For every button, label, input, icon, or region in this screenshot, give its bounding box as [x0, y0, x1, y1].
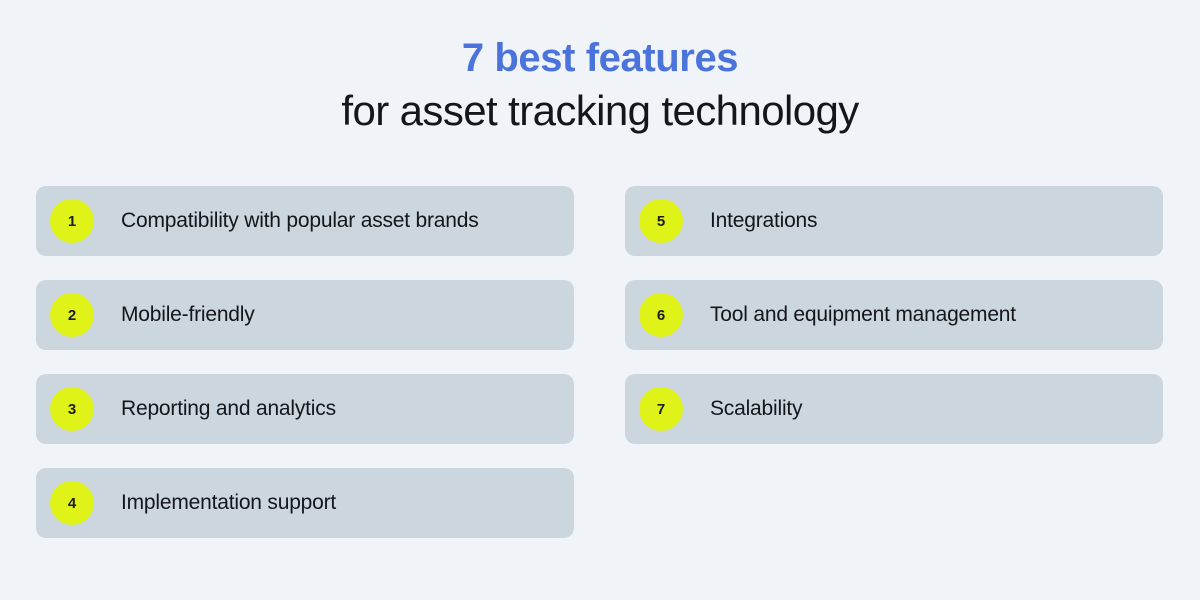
feature-columns: 1 Compatibility with popular asset brand… [36, 186, 1164, 538]
feature-label: Scalability [710, 397, 802, 421]
title-line-primary: 7 best features [0, 36, 1200, 81]
feature-column-left: 1 Compatibility with popular asset brand… [36, 186, 574, 538]
page-title: 7 best features for asset tracking techn… [0, 36, 1200, 141]
number-badge: 3 [50, 387, 94, 431]
number-badge: 2 [50, 293, 94, 337]
feature-card[interactable]: 5 Integrations [625, 186, 1163, 256]
feature-card[interactable]: 2 Mobile-friendly [36, 280, 574, 350]
feature-card[interactable]: 7 Scalability [625, 374, 1163, 444]
number-badge: 7 [639, 387, 683, 431]
feature-label: Reporting and analytics [121, 397, 336, 421]
feature-card[interactable]: 1 Compatibility with popular asset brand… [36, 186, 574, 256]
number-badge: 6 [639, 293, 683, 337]
feature-label: Tool and equipment management [710, 303, 1016, 327]
feature-label: Mobile-friendly [121, 303, 255, 327]
number-badge: 5 [639, 199, 683, 243]
feature-column-right: 5 Integrations 6 Tool and equipment mana… [625, 186, 1163, 538]
infographic-page: 7 best features for asset tracking techn… [0, 0, 1200, 600]
feature-card[interactable]: 3 Reporting and analytics [36, 374, 574, 444]
feature-label: Integrations [710, 209, 817, 233]
number-badge: 4 [50, 481, 94, 525]
title-line-secondary: for asset tracking technology [0, 81, 1200, 141]
number-badge: 1 [50, 199, 94, 243]
feature-label: Implementation support [121, 491, 336, 515]
feature-label: Compatibility with popular asset brands [121, 209, 479, 233]
feature-card[interactable]: 4 Implementation support [36, 468, 574, 538]
feature-card[interactable]: 6 Tool and equipment management [625, 280, 1163, 350]
